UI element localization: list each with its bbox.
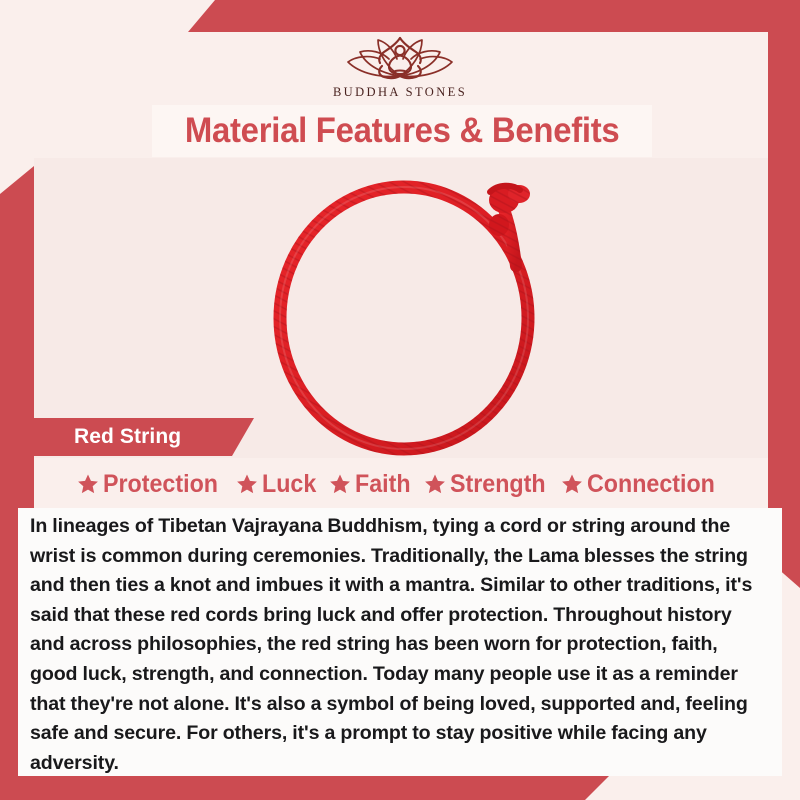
page-title: Material Features & Benefits [185,111,620,151]
brand-name: BUDDHA STONES [333,85,467,100]
right-accent-strip [768,28,800,588]
product-label-banner: Red String [34,418,254,456]
lotus-meditation-icon [326,32,474,82]
product-image-area [34,158,768,458]
star-icon [424,473,446,495]
brand-logo: BUDDHA STONES [0,32,800,104]
feature-label: Protection [103,470,218,499]
feature-label: Luck [262,470,316,499]
feature-item-strength: Strength [424,470,553,499]
star-icon [236,473,258,495]
feature-list: Protection Luck Faith Strength Connectio… [34,464,768,504]
title-banner: Material Features & Benefits [152,105,652,157]
feature-item-luck: Luck [236,470,320,499]
star-icon [561,473,583,495]
feature-label: Connection [587,470,715,499]
infographic-page: BUDDHA STONES Material Features & Benefi… [0,0,800,800]
star-icon [77,473,99,495]
feature-label: Faith [355,470,411,499]
feature-item-connection: Connection [561,470,725,499]
top-accent-bar [0,0,800,32]
feature-item-faith: Faith [329,470,415,499]
product-label: Red String [74,425,181,449]
red-string-bracelet-image [270,170,550,458]
feature-label: Strength [450,470,546,499]
description-text: In lineages of Tibetan Vajrayana Buddhis… [30,512,764,778]
description-panel: In lineages of Tibetan Vajrayana Buddhis… [18,508,782,776]
feature-item-protection: Protection [77,470,227,499]
star-icon [329,473,351,495]
